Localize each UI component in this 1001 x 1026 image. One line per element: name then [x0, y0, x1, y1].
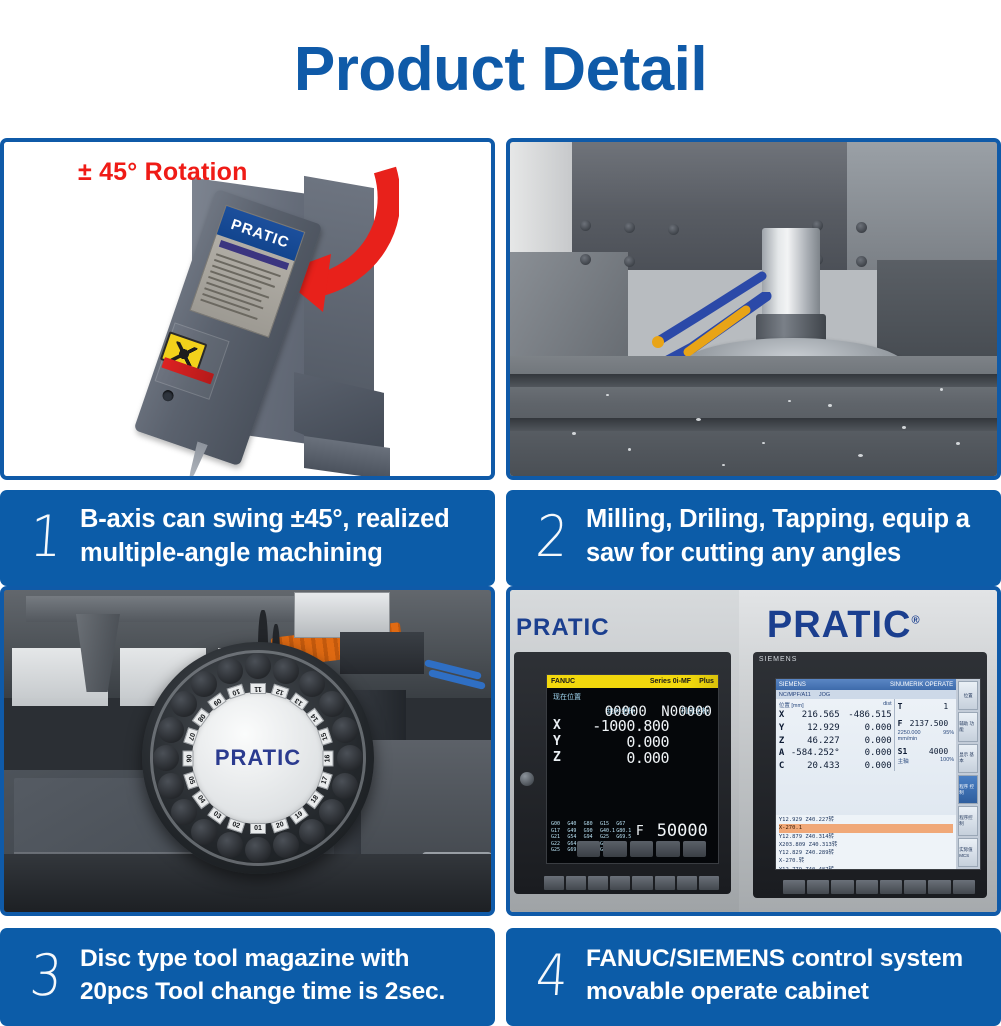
magazine-hub-logo: PRATIC	[215, 745, 301, 771]
siemens-tool-label: T	[898, 701, 910, 712]
siemens-spindle-value: 4000	[910, 746, 955, 757]
tool-pocket-label: 06	[183, 751, 194, 767]
siemens-program-line: Y12.929 Z40.227转	[779, 816, 953, 824]
tool-pocket	[191, 671, 217, 697]
rotation-annotation: ± 45° Rotation	[78, 158, 248, 187]
fanuc-gcode: G22	[551, 841, 564, 848]
machine-table	[510, 356, 997, 476]
pratic-logo-left: PRATIC	[516, 614, 610, 642]
keypad-key[interactable]	[566, 876, 586, 890]
fanuc-gcode: G54	[567, 834, 580, 841]
fanuc-screen-title: 现在位置	[553, 692, 581, 702]
siemens-axis-position: 216.565	[791, 709, 846, 722]
tool-pocket	[245, 837, 271, 863]
page-title: Product Detail	[0, 34, 1001, 105]
siemens-axis-distance: 0.000	[846, 747, 892, 760]
siemens-axis-position: 20.433	[791, 760, 846, 773]
keypad-key[interactable]	[856, 880, 878, 894]
fanuc-gcode: G25	[600, 834, 613, 841]
coolant-nozzle-icon	[630, 270, 770, 360]
siemens-axis-name: Z	[779, 735, 791, 748]
keypad-key[interactable]	[655, 876, 675, 890]
fanuc-plus: Plus	[699, 678, 714, 685]
siemens-axis-name: X	[779, 709, 791, 722]
keypad-key[interactable]	[677, 876, 697, 890]
tool-pocket	[217, 832, 243, 858]
keypad-key[interactable]	[831, 880, 853, 894]
fanuc-keypad[interactable]	[544, 876, 719, 890]
siemens-axis-row: Y12.9290.000	[779, 722, 892, 735]
fanuc-axis-z: Z	[553, 750, 561, 765]
siemens-softkey[interactable]: 程序控制	[958, 806, 978, 835]
caption-bar-2: 2 Milling, Driling, Tapping, equip a saw…	[506, 490, 1001, 586]
tool-pocket	[337, 745, 363, 771]
siemens-axis-row: X216.565-486.515	[779, 709, 892, 722]
tool-pocket-label: 16	[323, 751, 334, 767]
siemens-program-line: Y12.829 Z40.289转	[779, 849, 953, 857]
tool-pocket	[158, 717, 184, 743]
siemens-axis-distance: 0.000	[846, 735, 892, 748]
fanuc-series: Series 0i-MF	[650, 678, 691, 685]
feature-grid: PRATIC	[0, 138, 1001, 1026]
fanuc-gcode: G00	[551, 821, 564, 828]
keypad-key[interactable]	[610, 876, 630, 890]
tool-pocket	[158, 773, 184, 799]
fanuc-gcode: G90	[584, 828, 597, 835]
fanuc-axis-y: Y	[553, 734, 561, 749]
fanuc-gcode: G67	[616, 821, 629, 828]
caption-number-2: 2	[525, 509, 578, 566]
caption-text-2: Milling, Driling, Tapping, equip a saw f…	[580, 503, 987, 571]
siemens-spindle-pct: 100%	[940, 757, 954, 765]
b-axis-swivel-head-photo: PRATIC	[4, 142, 491, 476]
keypad-key[interactable]	[807, 880, 829, 894]
siemens-feed-value: 2137.500	[910, 718, 955, 729]
siemens-feed-sub: 2250.000 mm/min	[898, 730, 940, 742]
siemens-axis-position: 46.227	[791, 735, 846, 748]
siemens-channel: NC/MPF/A11	[779, 692, 811, 698]
tool-pocket-label: 01	[250, 823, 266, 834]
keypad-key[interactable]	[928, 880, 950, 894]
emergency-knob	[520, 772, 534, 786]
keypad-key[interactable]	[699, 876, 719, 890]
tool-pocket-label: 11	[250, 683, 266, 694]
photo-frame-2	[506, 138, 1001, 480]
fanuc-gcode: G15	[600, 821, 613, 828]
fanuc-logo: FANUC	[551, 678, 575, 685]
fanuc-gcode: G17	[551, 828, 564, 835]
keypad-key[interactable]	[880, 880, 902, 894]
tool-pocket	[171, 799, 197, 825]
fanuc-cabinet: PRATIC FANUC Series 0i-MF Plus	[510, 590, 739, 912]
siemens-axis-name: Y	[779, 722, 791, 735]
siemens-axis-row: C20.4330.000	[779, 760, 892, 773]
bolt-row	[580, 220, 880, 266]
siemens-axis-position: -584.252°	[791, 747, 846, 760]
fanuc-gcode: G69.5	[616, 834, 629, 841]
tool-pocket	[171, 691, 197, 717]
tool-magazine-disc: PRATIC 010203040506070809101112131415161…	[142, 642, 374, 874]
magazine-hub: PRATIC	[192, 692, 324, 824]
siemens-softkey[interactable]: 显示 基本	[958, 744, 978, 773]
fanuc-gcode: G25	[551, 847, 564, 854]
registered-mark-icon: ®	[912, 614, 921, 626]
fanuc-value-z: 0.000	[565, 749, 669, 767]
fanuc-feed-value: 50000	[657, 821, 708, 841]
feature-card-1: PRATIC	[0, 138, 495, 586]
siemens-program-line: X-270.1	[779, 824, 953, 832]
photo-frame-1: PRATIC	[0, 138, 495, 480]
saw-blade-cutting-photo	[510, 142, 997, 476]
siemens-feed-label: F	[898, 718, 910, 729]
photo-frame-3: PRATIC 010203040506070809101112131415161…	[0, 586, 495, 916]
fanuc-screen: FANUC Series 0i-MF Plus 现在位置 绝对坐标	[546, 674, 719, 864]
feature-card-3: PRATIC 010203040506070809101112131415161…	[0, 586, 495, 1026]
caption-number-4: 4	[525, 948, 578, 1005]
siemens-feed-pct: 95%	[943, 730, 954, 742]
siemens-program-line: Y12.879 Z40.314转	[779, 833, 953, 841]
fanuc-softkey-row[interactable]	[577, 841, 706, 857]
siemens-spindle-label: S1	[898, 746, 910, 757]
fanuc-softkey[interactable]	[577, 841, 600, 857]
tool-pocket	[217, 658, 243, 684]
fanuc-gcode: G80	[584, 821, 597, 828]
siemens-master-label: 主轴	[898, 757, 909, 765]
nameplate: PRATIC	[189, 205, 305, 338]
siemens-bezel-logo: SIEMENS	[759, 656, 798, 663]
caption-text-4: FANUC/SIEMENS control system movable ope…	[580, 943, 987, 1008]
keypad-key[interactable]	[544, 876, 564, 890]
fanuc-gcode: G94	[584, 834, 597, 841]
tool-pocket	[332, 717, 358, 743]
siemens-cabinet: PRATIC® SIEMENS SIEMENS SINUMERIK OPERAT…	[739, 590, 997, 912]
fanuc-softkey[interactable]	[603, 841, 626, 857]
siemens-program-line: X-270.转	[779, 857, 953, 865]
keypad-key[interactable]	[632, 876, 652, 890]
siemens-axis-position: 12.929	[791, 722, 846, 735]
siemens-keypad[interactable]	[783, 880, 975, 894]
caption-number-1: 1	[19, 509, 72, 566]
siemens-mode: JOG	[819, 692, 830, 698]
caption-number-3: 3	[19, 948, 72, 1005]
siemens-axis-row: A-584.252°0.000	[779, 747, 892, 760]
siemens-axis-distance: 0.000	[846, 722, 892, 735]
keypad-key[interactable]	[953, 880, 975, 894]
siemens-axis-name: A	[779, 747, 791, 760]
caption-text-3: Disc type tool magazine with 20pcs Tool …	[74, 943, 481, 1008]
siemens-axis-distance: 0.000	[846, 760, 892, 773]
siemens-screen: SIEMENS SINUMERIK OPERATE NC/MPF/A11 JOG	[775, 678, 981, 870]
siemens-brand-small: SIEMENS	[779, 682, 806, 688]
feature-card-2: 2 Milling, Driling, Tapping, equip a saw…	[506, 138, 1001, 586]
pratic-logo-right: PRATIC®	[767, 604, 921, 647]
fanuc-softkey[interactable]	[683, 841, 706, 857]
siemens-axis-row: Z46.2270.000	[779, 735, 892, 748]
siemens-col-pos: 位置 [mm]	[779, 701, 804, 709]
feature-card-4: PRATIC FANUC Series 0i-MF Plus	[506, 586, 1001, 1026]
siemens-softkey[interactable]: 位置	[958, 681, 978, 710]
siemens-softkey[interactable]: 程序 控制	[958, 775, 978, 804]
tool-pocket	[299, 671, 325, 697]
siemens-program-line: Y12.779 Z40.487转	[779, 866, 953, 871]
fanuc-softkey[interactable]	[630, 841, 653, 857]
siemens-program-view: Y12.929 Z40.227转X-270.1Y12.879 Z40.314转X…	[776, 815, 956, 869]
keypad-key[interactable]	[588, 876, 608, 890]
cnc-control-panels-photo: PRATIC FANUC Series 0i-MF Plus	[510, 590, 997, 912]
fanuc-gcode: G40	[567, 821, 580, 828]
tool-pocket	[245, 653, 271, 679]
disc-tool-magazine-photo: PRATIC 010203040506070809101112131415161…	[4, 590, 491, 912]
spindle-port	[161, 389, 175, 403]
siemens-axis-distance: -486.515	[846, 709, 892, 722]
fanuc-gcode: G40.1	[600, 828, 613, 835]
fanuc-feed-label: F	[636, 824, 644, 839]
keypad-key[interactable]	[904, 880, 926, 894]
fanuc-gcode: G21	[551, 834, 564, 841]
caption-bar-1: 1 B-axis can swing ±45°, realized multip…	[0, 490, 495, 586]
siemens-softkey[interactable]: 辅助 功能	[958, 712, 978, 741]
caption-bar-4: 4 FANUC/SIEMENS control system movable o…	[506, 928, 1001, 1026]
siemens-program-line: X203.809 Z40.313转	[779, 841, 953, 849]
caption-bar-3: 3 Disc type tool magazine with 20pcs Too…	[0, 928, 495, 1026]
photo-frame-4: PRATIC FANUC Series 0i-MF Plus	[506, 586, 1001, 916]
tool-pocket	[273, 658, 299, 684]
fanuc-gcode: G49	[567, 828, 580, 835]
siemens-tool-value: 1	[910, 701, 955, 712]
fanuc-gcode: G80.1	[616, 828, 629, 835]
keypad-key[interactable]	[783, 880, 805, 894]
siemens-col-dist: dist	[883, 701, 892, 709]
siemens-softkey[interactable]: 实际值 MCS	[958, 838, 978, 867]
fanuc-softkey[interactable]	[656, 841, 679, 857]
tool-pocket	[153, 745, 179, 771]
siemens-screen-title: SINUMERIK OPERATE	[890, 682, 953, 688]
siemens-axis-name: C	[779, 760, 791, 773]
siemens-vertical-softkeys[interactable]: 位置辅助 功能显示 基本程序 控制程序控制实际值 MCS	[956, 679, 980, 869]
caption-text-1: B-axis can swing ±45°, realized multiple…	[74, 503, 481, 571]
product-detail-page: Product Detail	[0, 0, 1001, 1026]
fanuc-axis-x: X	[553, 718, 561, 733]
